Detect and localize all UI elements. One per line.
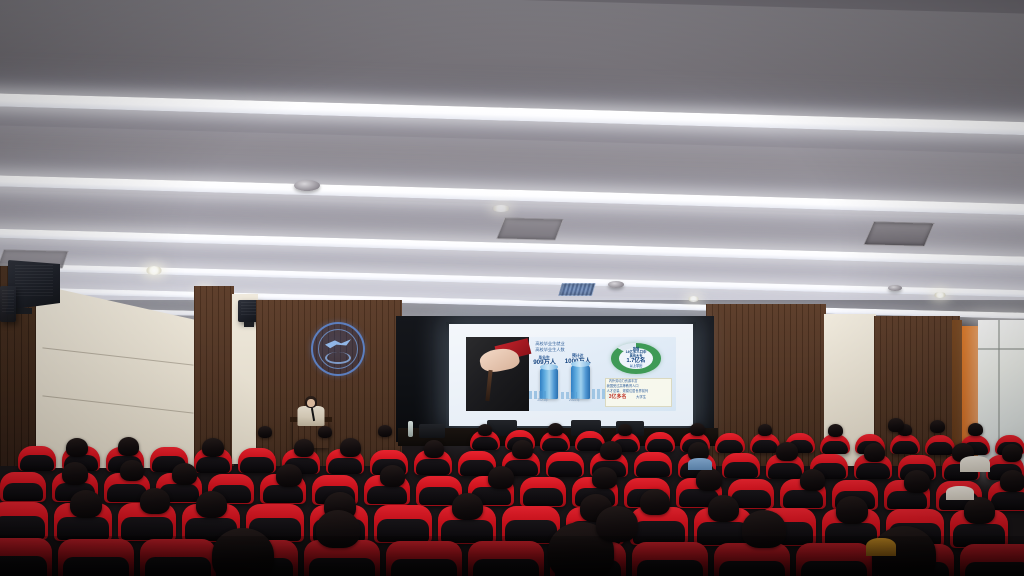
audience-head <box>424 440 444 458</box>
donut-label-line5: 以上学历 <box>611 365 661 368</box>
emblem-gear-icon <box>325 352 351 364</box>
seat[interactable] <box>715 433 745 453</box>
audience-head <box>478 424 492 436</box>
downlight-icon <box>492 205 510 212</box>
audience-head <box>800 469 825 491</box>
audience-head <box>258 426 272 438</box>
slide-note-2: 我国受过高等教育人口 <box>607 385 639 388</box>
audience-head <box>548 423 563 436</box>
wall-speaker-left-lower <box>0 286 16 322</box>
seat[interactable] <box>0 472 46 502</box>
speaker-bracket <box>244 322 254 327</box>
audience-shoulder <box>688 458 712 470</box>
audience-head <box>690 423 705 436</box>
slide-content-card: 高校毕业生就业 高校毕业生人数 毕业生 909万人 2021年 预计达 1000… <box>466 337 676 410</box>
bar-1-year-label: 2021年 <box>537 399 548 403</box>
seat[interactable] <box>645 432 675 452</box>
slide-note-1: 内外劳动力资源丰富 <box>609 380 638 383</box>
auditorium-photo: 高校毕业生就业 高校毕业生人数 毕业生 909万人 2021年 预计达 1000… <box>0 0 1024 576</box>
slide-note-3: 人才总量、规模位居世界前列 <box>607 390 648 393</box>
seat[interactable] <box>925 435 955 455</box>
seat[interactable] <box>546 452 584 477</box>
university-emblem <box>311 322 365 376</box>
audience-head <box>276 464 302 487</box>
downlight-icon <box>146 266 162 275</box>
audience-head <box>118 437 139 456</box>
audience-head <box>172 463 197 485</box>
audience-head <box>888 418 904 432</box>
audience-head <box>776 442 798 461</box>
audience-head <box>836 496 868 524</box>
audience-head <box>600 441 622 460</box>
audience-shoulder <box>946 486 974 500</box>
audience-head <box>62 462 88 485</box>
floor-shadow <box>0 536 1024 576</box>
seat[interactable] <box>18 446 56 471</box>
audience-head <box>904 470 930 493</box>
slide-note-highlight: 3亿多名 <box>609 395 627 400</box>
audience-head <box>758 424 772 436</box>
slide-photo <box>466 337 529 410</box>
audience-head <box>592 467 617 489</box>
air-vent-icon <box>863 221 935 247</box>
audience-head <box>618 424 632 436</box>
seat[interactable] <box>520 477 566 507</box>
seat[interactable] <box>722 453 760 478</box>
audience-head <box>66 438 88 457</box>
seat[interactable] <box>820 434 850 454</box>
seat[interactable] <box>238 448 276 473</box>
window-mullion <box>978 348 1024 350</box>
smoke-detector-icon <box>294 180 320 191</box>
audience-head <box>964 497 995 524</box>
audience-head <box>930 420 945 433</box>
audience-head <box>380 465 405 487</box>
slide-heading: 高校毕业生就业 <box>535 342 564 346</box>
audience-head <box>452 493 483 520</box>
audience-head <box>318 426 332 438</box>
audience-seating <box>0 410 1024 576</box>
slide-photo-pen <box>486 369 493 400</box>
audience-head <box>140 488 170 514</box>
audience-head <box>708 495 739 522</box>
slide-note-suffix: 大学生 <box>636 396 646 400</box>
audience-head <box>968 423 983 436</box>
audience-head <box>378 425 392 437</box>
audience-head <box>864 443 885 462</box>
seat[interactable] <box>634 452 672 477</box>
air-vent-icon <box>496 217 564 241</box>
slide-skyline-decoration <box>561 392 578 399</box>
audience-head <box>488 466 514 489</box>
audience-head <box>70 490 102 518</box>
audience-shoulder <box>960 456 990 472</box>
slide-skyline-decoration <box>529 391 546 399</box>
seat[interactable] <box>0 502 48 540</box>
audience-head <box>828 424 843 437</box>
audience-head <box>512 440 533 459</box>
audience-head <box>696 468 722 491</box>
bar-2-year-label: 2022年 <box>569 399 580 403</box>
audience-head <box>202 438 224 457</box>
audience-head <box>1002 444 1022 462</box>
audience-head <box>120 460 144 481</box>
audience-head <box>196 491 227 518</box>
seat[interactable] <box>890 434 920 454</box>
ceiling <box>0 0 1024 300</box>
audience-head <box>640 489 670 515</box>
slide-subheading: 高校毕业生人数 <box>535 348 564 352</box>
audience-head <box>340 438 361 457</box>
presenter-face <box>307 399 315 407</box>
audience-head <box>294 439 314 457</box>
audience-head <box>1000 470 1024 492</box>
